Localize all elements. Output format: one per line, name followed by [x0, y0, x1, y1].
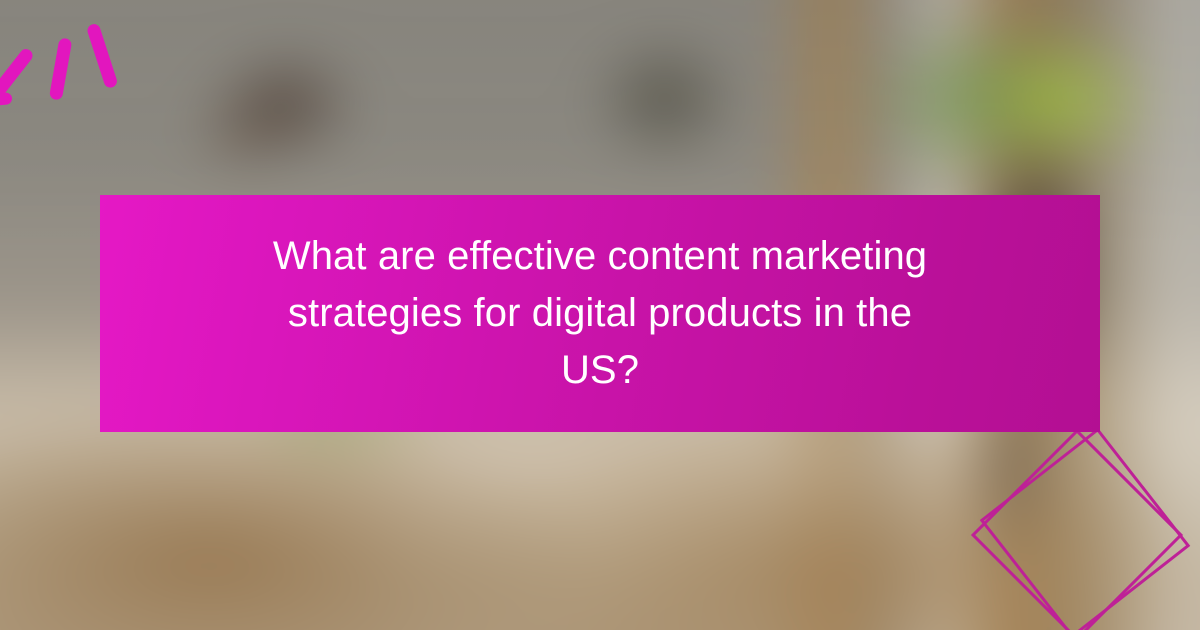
headline-text: What are effective content marketing str…	[250, 228, 950, 398]
poster-canvas: What are effective content marketing str…	[0, 0, 1200, 630]
headline-banner: What are effective content marketing str…	[100, 195, 1100, 432]
